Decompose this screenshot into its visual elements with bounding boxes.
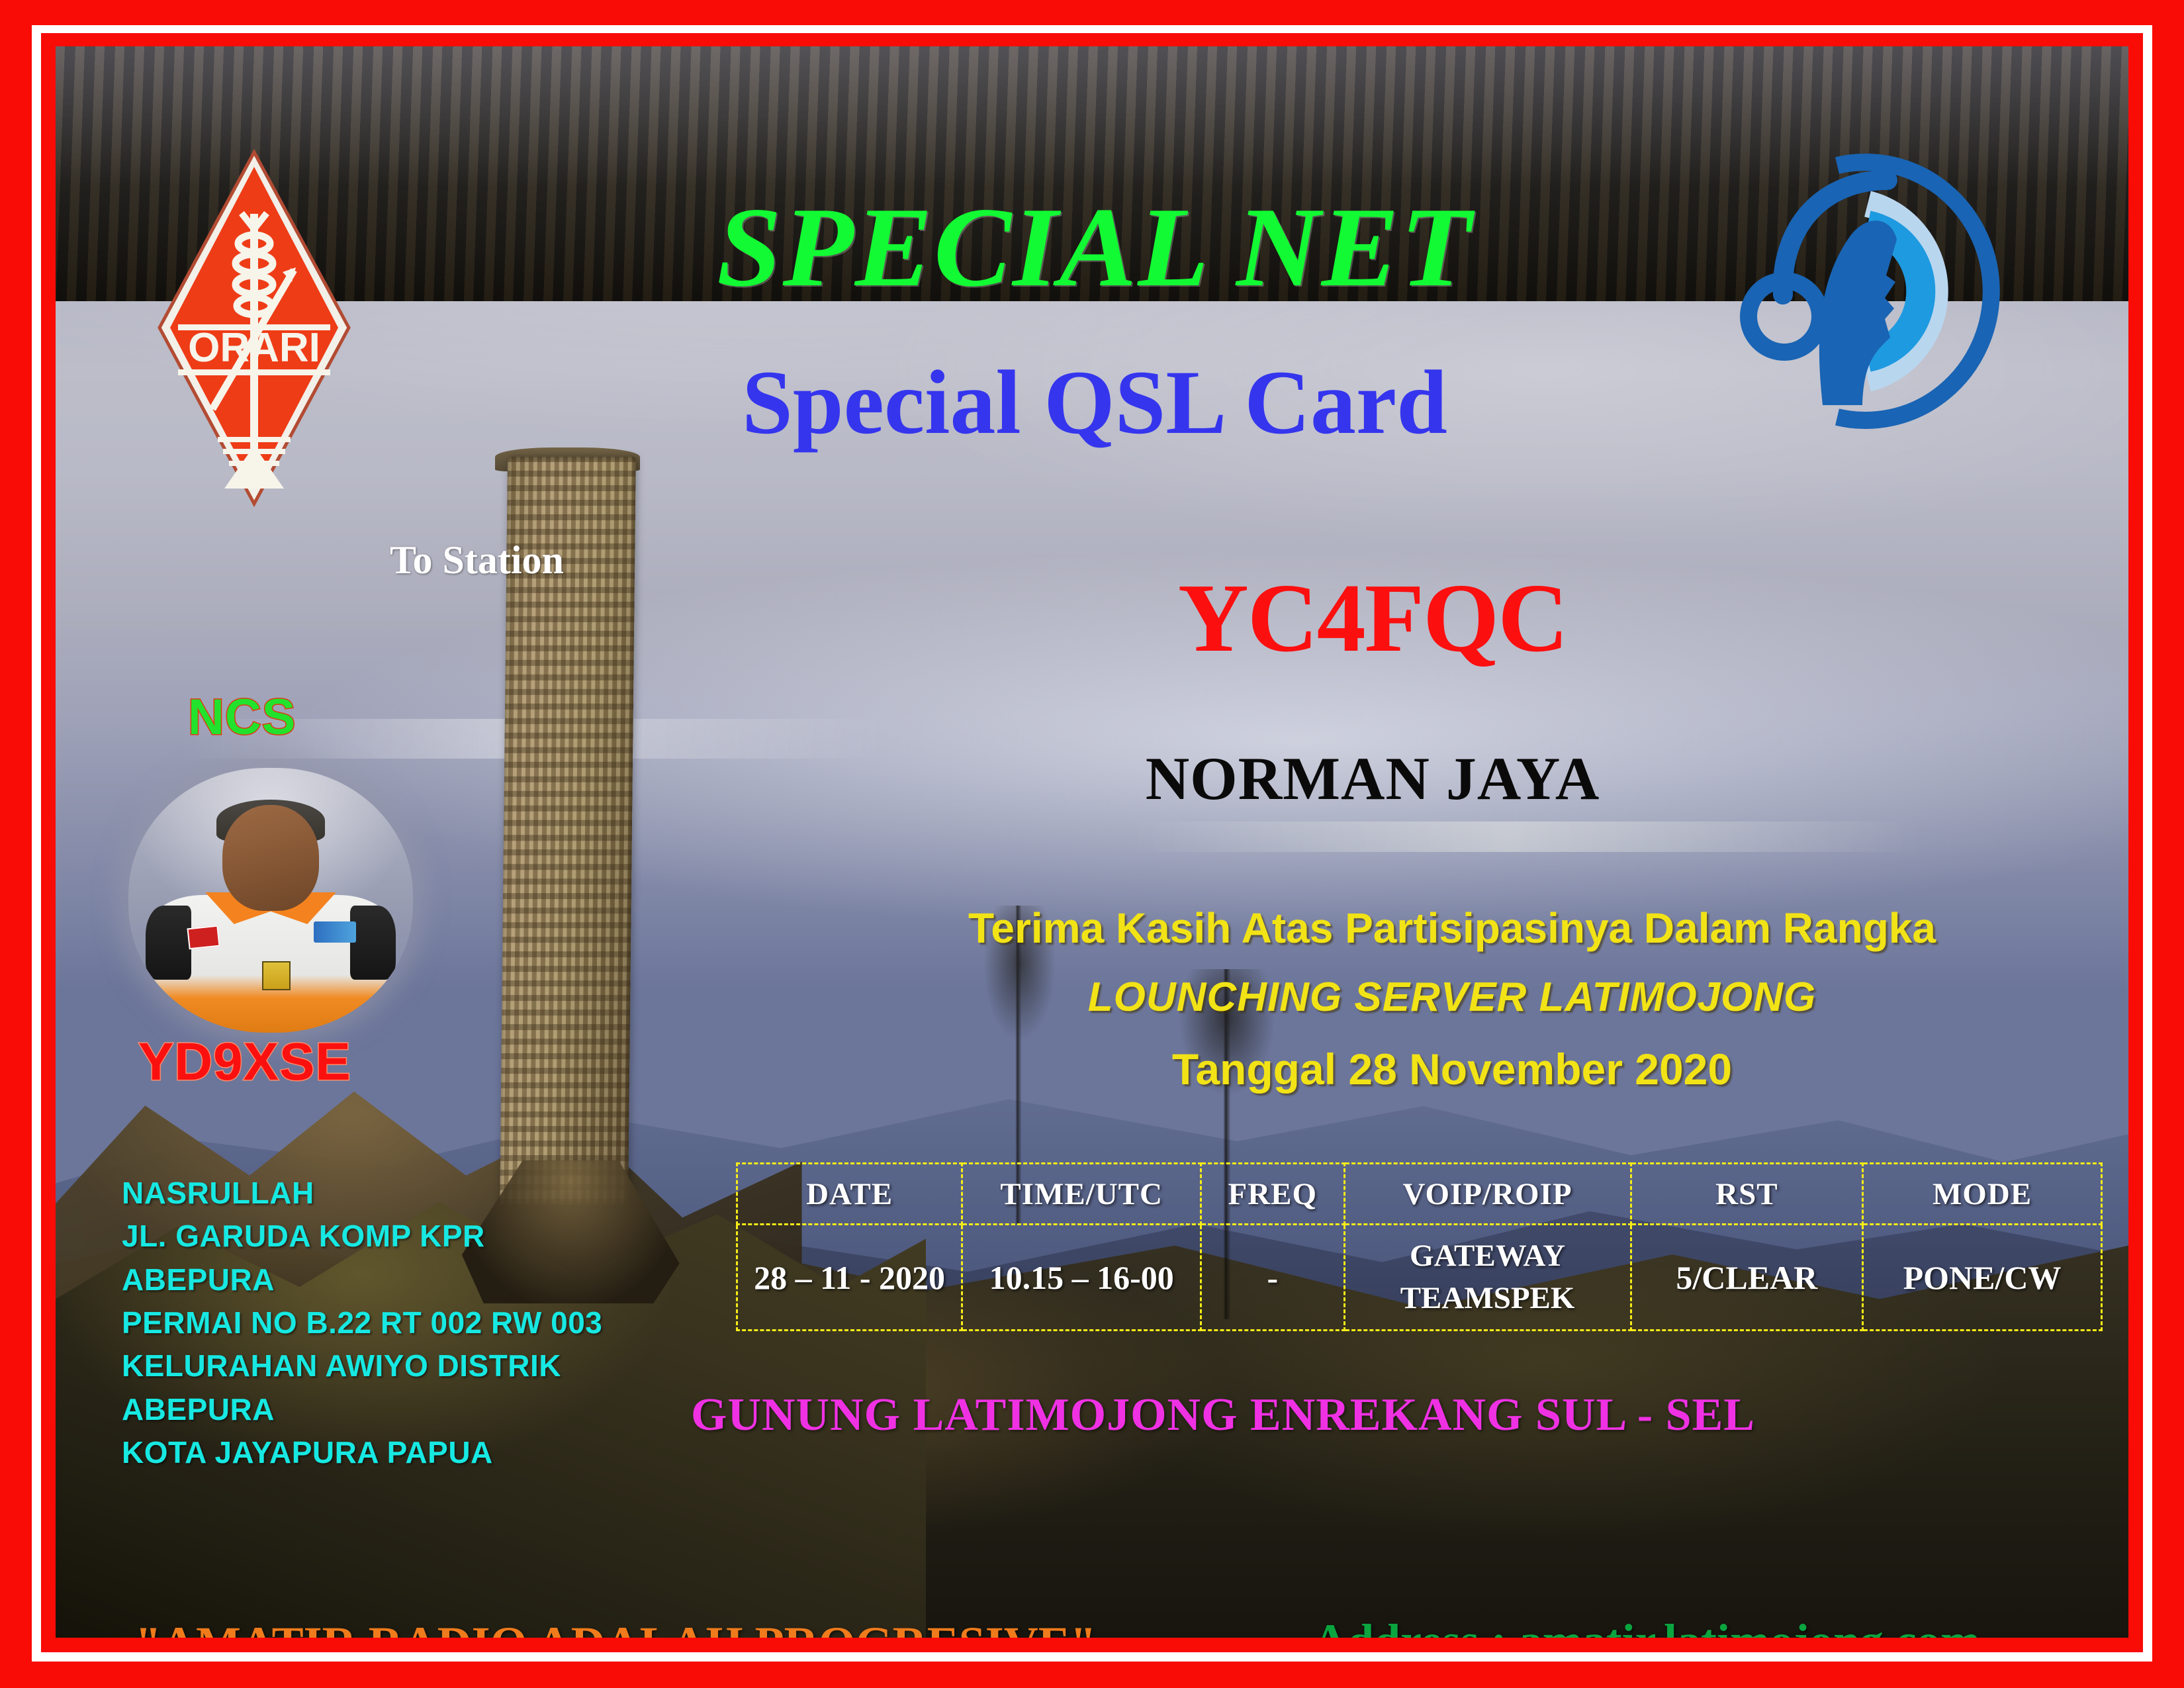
station-callsign: YC4FQC: [982, 569, 1763, 667]
ncs-photo-shoulder-left: [146, 906, 191, 980]
column-header-voip: VOIP/ROIP: [1344, 1164, 1631, 1225]
address-line: JL. GARUDA KOMP KPR: [122, 1215, 602, 1258]
column-header-mode: MODE: [1863, 1164, 2102, 1225]
to-station-label: To Station: [390, 538, 564, 583]
column-header-freq: FREQ: [1201, 1164, 1345, 1225]
ncs-photo-head: [222, 805, 319, 911]
event-name-line: LOUNCHING SERVER LATIMOJONG: [837, 977, 2068, 1018]
column-header-rst: RST: [1631, 1164, 1863, 1225]
ncs-photo-shoulder-right: [350, 906, 396, 980]
address-line: PERMAI NO B.22 RT 002 RW 003: [122, 1301, 602, 1344]
orari-logo: ORARI: [152, 144, 357, 512]
ncs-photo-patch-left: [187, 925, 220, 950]
table-row: 28 – 11 - 2020 10.15 – 16-00 - GATEWAY T…: [737, 1225, 2102, 1331]
footer-address: Address : amatir.latimojong.com: [1313, 1614, 1980, 1638]
cell-freq: -: [1201, 1225, 1345, 1331]
page-subtitle: Special QSL Card: [512, 352, 1677, 453]
card-frame-red-inner: ORARI SPECIAL NET: [41, 33, 2143, 1652]
cell-voip: GATEWAY TEAMSPEK: [1344, 1225, 1631, 1331]
column-header-time: TIME/UTC: [962, 1164, 1201, 1225]
cell-date: 28 – 11 - 2020: [737, 1225, 962, 1331]
cell-rst: 5/CLEAR: [1631, 1225, 1863, 1331]
ncs-label: NCS: [188, 688, 296, 746]
ncs-callsign: YD9XSE: [138, 1031, 351, 1092]
cell-time: 10.15 – 16-00: [962, 1225, 1201, 1331]
address-line: ABEPURA: [122, 1258, 602, 1301]
page-title: SPECIAL NET: [500, 191, 1688, 305]
address-line: KELURAHAN AWIYO DISTRIK: [122, 1344, 602, 1387]
card-frame-white: ORARI SPECIAL NET: [32, 25, 2152, 1662]
station-address: NASRULLAH JL. GARUDA KOMP KPR ABEPURA PE…: [122, 1172, 602, 1474]
qsl-card: ORARI SPECIAL NET: [0, 0, 2184, 1688]
ncs-photo-id-badge: [262, 961, 291, 990]
footer-motto: "AMATIR RADIO ADALAH PROGRESIVE": [135, 1617, 1097, 1638]
table-header-row: DATE TIME/UTC FREQ VOIP/ROIP RST MODE: [737, 1164, 2102, 1225]
address-line: NASRULLAH: [122, 1172, 602, 1215]
ncs-operator-photo: [128, 768, 413, 1033]
location-line: GUNUNG LATIMOJONG ENREKANG SUL - SEL: [691, 1389, 1922, 1442]
event-thanks-line: Terima Kasih Atas Partisipasinya Dalam R…: [837, 907, 2068, 949]
orari-logo-text: ORARI: [188, 325, 320, 371]
address-line: ABEPURA: [122, 1388, 602, 1431]
headset-profile-logo: [1738, 146, 2016, 437]
cell-voip-line2: TEAMSPEK: [1348, 1278, 1627, 1319]
column-header-date: DATE: [737, 1164, 962, 1225]
address-line: KOTA JAYAPURA PAPUA: [122, 1431, 602, 1474]
cell-mode: PONE/CW: [1863, 1225, 2102, 1331]
operator-name: NORMAN JAYA: [982, 748, 1763, 809]
event-date-line: Tanggal 28 November 2020: [837, 1047, 2068, 1091]
card-photo-area: ORARI SPECIAL NET: [56, 46, 2128, 1638]
qso-details-table: DATE TIME/UTC FREQ VOIP/ROIP RST MODE 28…: [736, 1162, 2103, 1331]
cell-voip-line1: GATEWAY: [1348, 1235, 1627, 1277]
ncs-photo-patch-right: [314, 921, 357, 943]
